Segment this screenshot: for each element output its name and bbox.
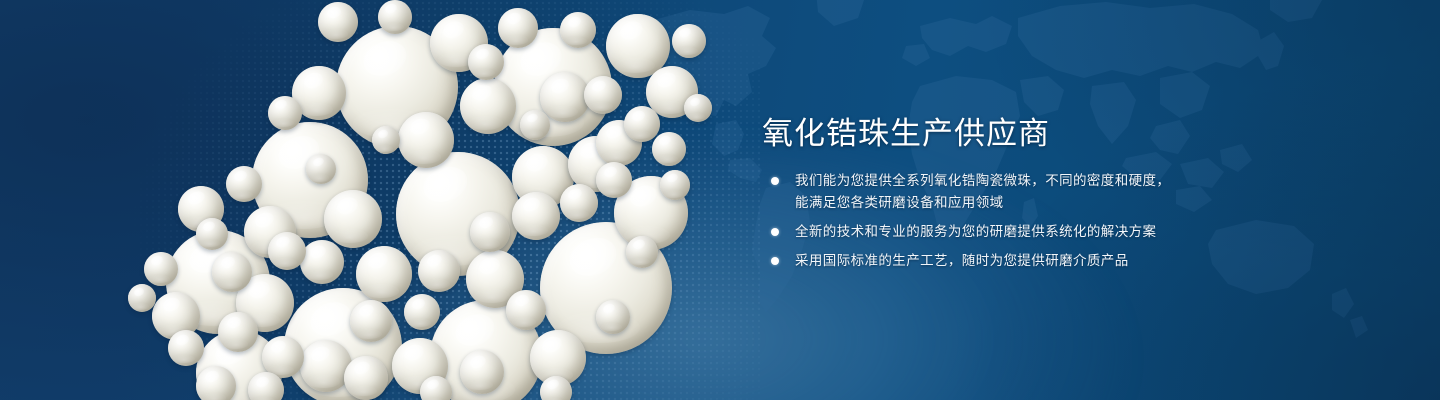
bead — [128, 284, 156, 312]
bead — [226, 166, 262, 202]
page-title: 氧化锆珠生产供应商 — [762, 108, 1050, 153]
bead — [306, 154, 336, 184]
zirconia-bead-cluster-image — [0, 0, 760, 400]
bead — [350, 300, 392, 342]
bullet-line: 采用国际标准的生产工艺，随时为您提供研磨介质产品 — [795, 250, 1170, 272]
bead — [404, 294, 440, 330]
bead — [344, 356, 388, 400]
bead — [498, 8, 538, 48]
bead — [460, 78, 516, 134]
bead — [318, 2, 358, 42]
bead — [420, 376, 452, 400]
bead — [660, 170, 690, 200]
bullet-line: 我们能为您提供全系列氧化锆陶瓷微珠，不同的密度和硬度， — [795, 170, 1170, 192]
bead — [560, 12, 596, 48]
filled-circle-bullet-icon — [771, 228, 779, 236]
bead — [624, 106, 660, 142]
filled-circle-bullet-icon — [771, 257, 779, 265]
bead — [560, 184, 598, 222]
bead — [512, 192, 560, 240]
bead — [626, 236, 658, 268]
list-item: 全新的技术和专业的服务为您的研磨提供系统化的解决方案 — [768, 221, 1170, 243]
bead — [300, 240, 344, 284]
bead — [596, 300, 630, 334]
bead — [218, 312, 258, 352]
bead — [372, 126, 400, 154]
bead — [212, 252, 252, 292]
bead — [540, 72, 590, 122]
bead — [652, 132, 686, 166]
bead — [468, 44, 504, 80]
bead — [596, 162, 632, 198]
bullet-line: 能满足您各类研磨设备和应用领域 — [795, 192, 1170, 214]
feature-bullet-list: 我们能为您提供全系列氧化锆陶瓷微珠，不同的密度和硬度， 能满足您各类研磨设备和应… — [768, 170, 1170, 272]
bead — [470, 212, 510, 252]
bead — [398, 112, 454, 168]
bead — [520, 110, 550, 140]
bead — [684, 94, 712, 122]
bead — [584, 76, 622, 114]
list-item: 我们能为您提供全系列氧化锆陶瓷微珠，不同的密度和硬度， 能满足您各类研磨设备和应… — [768, 170, 1170, 214]
bead — [196, 366, 236, 400]
bead — [196, 218, 228, 250]
bead — [356, 246, 412, 302]
list-item: 采用国际标准的生产工艺，随时为您提供研磨介质产品 — [768, 250, 1170, 272]
filled-circle-bullet-icon — [771, 177, 779, 185]
bead — [268, 96, 302, 130]
bead — [168, 330, 204, 366]
bead — [506, 290, 546, 330]
bead — [672, 24, 706, 58]
bead — [378, 0, 412, 34]
bead — [324, 190, 382, 248]
bead — [540, 376, 572, 400]
bead — [460, 350, 504, 394]
bead — [144, 252, 178, 286]
hero-banner: 氧化锆珠生产供应商 我们能为您提供全系列氧化锆陶瓷微珠，不同的密度和硬度， 能满… — [0, 0, 1440, 400]
bead — [268, 232, 306, 270]
bead — [418, 250, 460, 292]
bullet-line: 全新的技术和专业的服务为您的研磨提供系统化的解决方案 — [795, 221, 1170, 243]
banner-text-block: 氧化锆珠生产供应商 我们能为您提供全系列氧化锆陶瓷微珠，不同的密度和硬度， 能满… — [762, 0, 1362, 400]
bead — [248, 372, 284, 400]
